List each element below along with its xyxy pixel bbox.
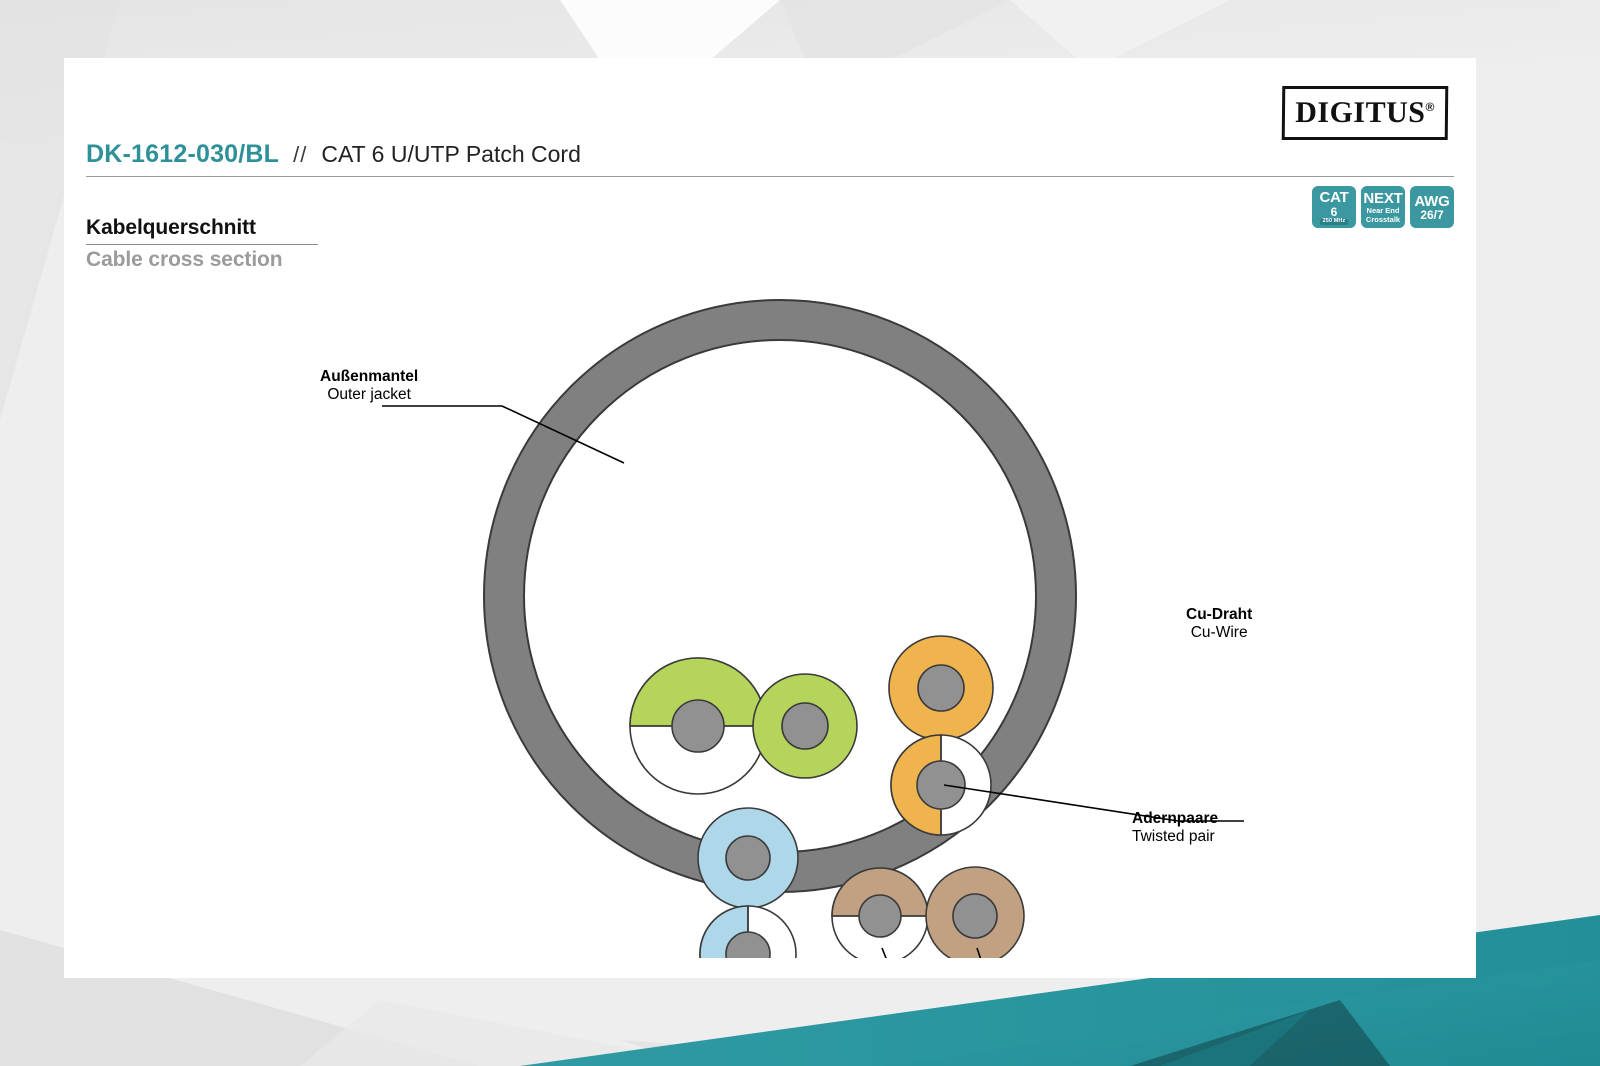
badge-awg-sub: 26/7 bbox=[1420, 209, 1443, 221]
pair-brown bbox=[832, 867, 1024, 958]
page-title: DK-1612-030/BL // CAT 6 U/UTP Patch Cord bbox=[86, 140, 1454, 169]
section-title-de: Kabelquerschnitt bbox=[86, 216, 318, 240]
conductor-core bbox=[672, 700, 724, 752]
callout-outer-jacket: Außenmantel Outer jacket bbox=[320, 368, 418, 404]
badge-next: NEXT Near EndCrosstalk bbox=[1361, 186, 1405, 228]
wire-green-solid bbox=[753, 674, 857, 778]
conductor-core bbox=[917, 761, 965, 809]
badge-cat-frequency: 250 MHz bbox=[1320, 219, 1349, 225]
wire-orange-solid bbox=[889, 636, 993, 740]
wire-blue-solid bbox=[698, 808, 798, 908]
conductor-core bbox=[726, 836, 770, 880]
conductor-core bbox=[918, 665, 964, 711]
callout-twisted-pair-en: Twisted pair bbox=[1132, 828, 1218, 846]
wire-brown-white bbox=[832, 868, 928, 958]
cross-section-svg bbox=[64, 258, 1476, 958]
spec-badge-group: CAT 6 250 MHz NEXT Near EndCrosstalk AWG… bbox=[1312, 186, 1454, 228]
pair-green bbox=[630, 658, 857, 794]
product-sku: DK-1612-030/BL bbox=[86, 140, 279, 169]
callout-twisted-pair-de: Adernpaare bbox=[1132, 810, 1218, 828]
badge-awg-main: AWG bbox=[1414, 194, 1449, 209]
badge-cat-main: CAT bbox=[1319, 190, 1348, 205]
badge-next-description: Near EndCrosstalk bbox=[1366, 207, 1400, 224]
logo-wordmark: DIGITUS bbox=[1295, 96, 1426, 129]
badge-cat-sub: 6 bbox=[1331, 206, 1338, 218]
callout-cu-wire: Cu-Draht Cu-Wire bbox=[1186, 606, 1252, 642]
digitus-logo: DIGITUS® bbox=[1282, 86, 1449, 140]
section-heading-rule bbox=[86, 244, 318, 245]
title-divider bbox=[86, 176, 1454, 177]
badge-awg: AWG 26/7 bbox=[1410, 186, 1454, 228]
callout-outer-jacket-en: Outer jacket bbox=[320, 386, 418, 404]
badge-next-main: NEXT bbox=[1363, 191, 1402, 206]
wire-brown-solid bbox=[926, 867, 1024, 958]
conductor-core bbox=[859, 895, 901, 937]
slide-background: DIGITUS® DK-1612-030/BL // CAT 6 U/UTP P… bbox=[0, 0, 1600, 1066]
callout-twisted-pair: Adernpaare Twisted pair bbox=[1132, 810, 1218, 846]
conductor-core bbox=[782, 703, 828, 749]
wire-orange-white bbox=[891, 735, 991, 835]
wire-blue-white bbox=[700, 906, 796, 958]
cable-cross-section-diagram: Außenmantel Outer jacket Cu-Draht Cu-Wir… bbox=[64, 258, 1476, 958]
conductor-core bbox=[953, 894, 997, 938]
leader-twisted-pair-a bbox=[882, 948, 1186, 958]
wire-green-white bbox=[630, 658, 766, 794]
callout-cu-wire-en: Cu-Wire bbox=[1186, 624, 1252, 642]
callout-cu-wire-de: Cu-Draht bbox=[1186, 606, 1252, 624]
product-name: CAT 6 U/UTP Patch Cord bbox=[321, 141, 580, 168]
registered-mark-icon: ® bbox=[1425, 100, 1434, 114]
pair-blue bbox=[698, 808, 798, 958]
badge-cat: CAT 6 250 MHz bbox=[1312, 186, 1356, 228]
title-separator: // bbox=[293, 142, 307, 168]
content-card: DIGITUS® DK-1612-030/BL // CAT 6 U/UTP P… bbox=[64, 58, 1476, 978]
callout-outer-jacket-de: Außenmantel bbox=[320, 368, 418, 386]
